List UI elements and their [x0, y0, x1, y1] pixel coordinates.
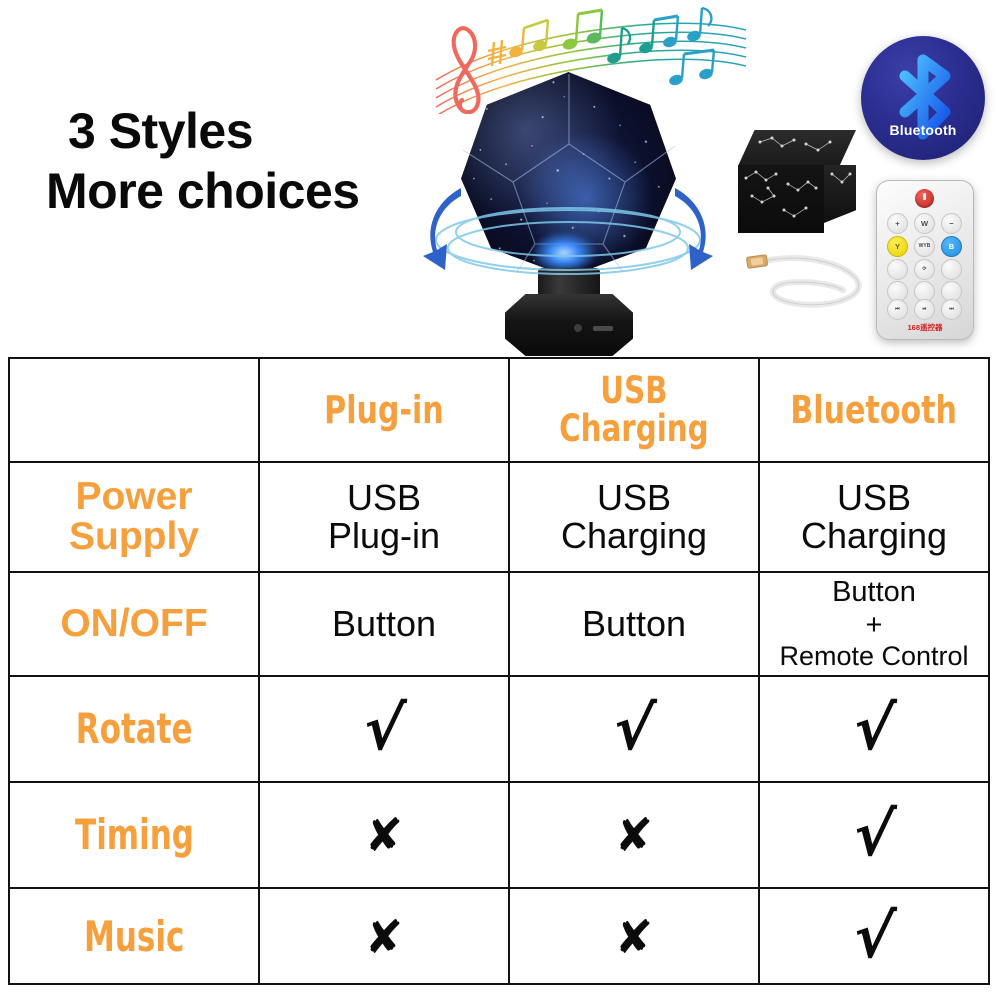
- check-icon: √: [851, 699, 897, 759]
- remote-brand-label: 168遥控器: [877, 322, 973, 333]
- remote-power-button: [915, 189, 934, 208]
- cell-music-usb: ✘: [510, 889, 760, 985]
- header-label-usb: USB Charging: [559, 372, 708, 447]
- cell-value-power-bluetooth-line-1: USB: [801, 479, 947, 517]
- remote-button-y: Y: [887, 236, 908, 257]
- row-label-timing: Timing: [75, 814, 194, 857]
- headline-line-1: 3 Styles: [46, 104, 446, 158]
- remote-button-w: W: [914, 213, 935, 234]
- cell-value-power-usb: USB Charging: [561, 479, 707, 555]
- cell-timing-usb: ✘: [510, 783, 760, 887]
- comparison-table: Plug-in USB Charging Bluetooth Power Sup…: [8, 357, 990, 985]
- row-label-cell-rotate: Rotate: [10, 677, 260, 781]
- cell-onoff-bluetooth: Button + Remote Control: [760, 573, 988, 675]
- header-cell-empty: [10, 359, 260, 461]
- remote-control-icon: + W − Y WYB B ⟳ ⏮ ⏯ ⏭ 168遥控器: [876, 180, 974, 340]
- bluetooth-icon: [861, 36, 985, 160]
- table-row-onoff: ON/OFF Button Button Button + Remote Con…: [10, 573, 988, 677]
- remote-button-b: B: [941, 236, 962, 257]
- cell-onoff-plugin: Button: [260, 573, 510, 675]
- headline: 3 Styles More choices: [46, 104, 446, 218]
- constellation-gift-box-icon: [738, 130, 856, 234]
- bluetooth-badge: Bluetooth: [861, 36, 985, 160]
- remote-button-play-pause: ⏯: [914, 299, 935, 320]
- row-label-onoff: ON/OFF: [60, 604, 207, 644]
- cross-icon: ✘: [615, 914, 654, 960]
- table-row-timing: Timing ✘ ✘ √: [10, 783, 988, 889]
- remote-button-flash: [941, 259, 962, 280]
- header-label-bluetooth: Bluetooth: [791, 391, 958, 429]
- cell-value-onoff-bluetooth-line-1: Button: [779, 576, 968, 608]
- rotation-indicator: [421, 182, 715, 300]
- cell-music-bluetooth: √: [760, 889, 988, 985]
- cross-icon: ✘: [615, 812, 654, 858]
- row-label-cell-onoff: ON/OFF: [10, 573, 260, 675]
- row-label-power-supply-line-2: Supply: [69, 517, 199, 557]
- lamp-base: [505, 294, 633, 356]
- cell-value-power-plugin: USB Plug-in: [328, 479, 440, 555]
- row-label-power-supply: Power Supply: [69, 477, 199, 557]
- cell-onoff-usb: Button: [510, 573, 760, 675]
- bluetooth-badge-label: Bluetooth: [861, 122, 985, 138]
- cell-value-onoff-bluetooth: Button + Remote Control: [779, 576, 968, 671]
- cell-value-power-plugin-line-1: USB: [328, 479, 440, 517]
- row-label-cell-power-supply: Power Supply: [10, 463, 260, 571]
- check-icon: √: [361, 699, 407, 759]
- cross-icon: ✘: [365, 914, 404, 960]
- remote-button-plus: +: [887, 213, 908, 234]
- remote-button-wyb: WYB: [914, 236, 935, 257]
- remote-button-rotate: ⟳: [914, 259, 935, 280]
- row-label-cell-music: Music: [10, 889, 260, 985]
- cell-rotate-plugin: √: [260, 677, 510, 781]
- cell-value-onoff-plugin: Button: [332, 605, 436, 643]
- header-label-plugin: Plug-in: [324, 391, 444, 429]
- cell-value-onoff-bluetooth-line-2: +: [779, 609, 968, 641]
- cell-value-power-plugin-line-2: Plug-in: [328, 517, 440, 555]
- cell-rotate-bluetooth: √: [760, 677, 988, 781]
- table-row-music: Music ✘ ✘ √: [10, 889, 988, 985]
- cell-value-onoff-usb: Button: [582, 605, 686, 643]
- row-label-cell-timing: Timing: [10, 783, 260, 887]
- headline-line-2: More choices: [46, 164, 446, 218]
- header-cell-bluetooth: Bluetooth: [760, 359, 988, 461]
- constellation-pattern: [738, 130, 856, 234]
- table-row-rotate: Rotate √ √ √: [10, 677, 988, 783]
- check-icon: √: [611, 699, 657, 759]
- cell-power-plugin: USB Plug-in: [260, 463, 510, 571]
- remote-button-next: ⏭: [941, 299, 962, 320]
- cell-value-power-usb-line-1: USB: [561, 479, 707, 517]
- header-label-usb-line-2: Charging: [559, 410, 708, 448]
- table-row-power-supply: Power Supply USB Plug-in USB Charging US…: [10, 463, 988, 573]
- lamp-base-button: [574, 324, 582, 332]
- remote-button-mode: [887, 259, 908, 280]
- header-label-usb-line-1: USB: [559, 372, 708, 410]
- table-header-row: Plug-in USB Charging Bluetooth: [10, 359, 988, 463]
- hero-section: 3 Styles More choices: [0, 0, 1000, 356]
- cell-timing-plugin: ✘: [260, 783, 510, 887]
- header-cell-usb: USB Charging: [510, 359, 760, 461]
- check-icon: √: [851, 907, 897, 967]
- cell-value-onoff-bluetooth-line-3: Remote Control: [779, 641, 968, 671]
- remote-button-minus: −: [941, 213, 962, 234]
- row-label-power-supply-line-1: Power: [69, 477, 199, 517]
- lamp-base-port: [593, 326, 613, 331]
- cell-timing-bluetooth: √: [760, 783, 988, 887]
- row-label-music: Music: [84, 916, 184, 959]
- cell-rotate-usb: √: [510, 677, 760, 781]
- product-comparison-image: 3 Styles More choices: [0, 0, 1000, 1000]
- cell-value-power-bluetooth: USB Charging: [801, 479, 947, 555]
- cell-power-usb: USB Charging: [510, 463, 760, 571]
- remote-button-prev: ⏮: [887, 299, 908, 320]
- cell-music-plugin: ✘: [260, 889, 510, 985]
- cell-power-bluetooth: USB Charging: [760, 463, 988, 571]
- cell-value-power-bluetooth-line-2: Charging: [801, 517, 947, 555]
- usb-cable-icon: [745, 246, 870, 312]
- cross-icon: ✘: [365, 812, 404, 858]
- check-icon: √: [851, 805, 897, 865]
- row-label-rotate: Rotate: [76, 708, 193, 751]
- star-projector-lamp-icon: [443, 72, 693, 356]
- cell-value-power-usb-line-2: Charging: [561, 517, 707, 555]
- header-cell-plugin: Plug-in: [260, 359, 510, 461]
